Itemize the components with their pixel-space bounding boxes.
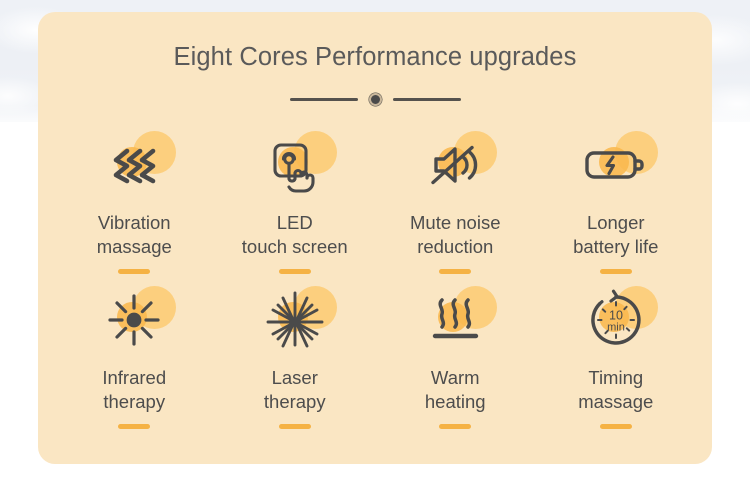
feature-label: Mute noise reduction xyxy=(410,211,501,260)
feature-item-vibration-massage[interactable]: Vibration massage xyxy=(54,129,215,284)
icon-container xyxy=(252,284,338,356)
label-underline xyxy=(279,269,311,274)
label-underline xyxy=(439,269,471,274)
icon-container xyxy=(91,284,177,356)
battery-charging-icon xyxy=(582,136,650,194)
timer-value: 10 xyxy=(609,308,623,322)
divider-line-left xyxy=(290,98,358,101)
label-underline xyxy=(279,424,311,429)
title-divider xyxy=(38,93,712,107)
feature-item-warm-heating[interactable]: Warm heating xyxy=(375,284,536,439)
page-title: Eight Cores Performance upgrades xyxy=(38,12,712,73)
feature-item-laser-therapy[interactable]: Laser therapy xyxy=(215,284,376,439)
timer-10-min-icon: 10 min xyxy=(585,289,647,351)
icon-container xyxy=(91,129,177,201)
label-underline xyxy=(118,424,150,429)
feature-label: LED touch screen xyxy=(242,211,348,260)
feature-card: Eight Cores Performance upgrades Vibrati… xyxy=(38,12,712,464)
label-underline xyxy=(600,269,632,274)
feature-item-infrared-therapy[interactable]: Infrared therapy xyxy=(54,284,215,439)
label-underline xyxy=(600,424,632,429)
icon-container xyxy=(412,284,498,356)
touch-screen-hand-icon xyxy=(266,136,324,194)
feature-label: Infrared therapy xyxy=(102,366,166,415)
feature-grid: Vibration massage xyxy=(38,107,712,455)
icon-container xyxy=(252,129,338,201)
feature-item-mute-noise-reduction[interactable]: Mute noise reduction xyxy=(375,129,536,284)
divider-line-right xyxy=(393,98,461,101)
label-underline xyxy=(439,424,471,429)
sun-rays-icon xyxy=(105,291,163,349)
divider-dot xyxy=(369,93,382,106)
icon-container xyxy=(573,129,659,201)
vibration-waves-icon xyxy=(105,136,163,194)
feature-label: Vibration massage xyxy=(97,211,172,260)
feature-item-timing-massage[interactable]: 10 min Timing massage xyxy=(536,284,697,439)
timer-unit: min xyxy=(607,321,625,333)
feature-item-led-touch-screen[interactable]: LED touch screen xyxy=(215,129,376,284)
feature-item-longer-battery-life[interactable]: Longer battery life xyxy=(536,129,697,284)
icon-container xyxy=(412,129,498,201)
laser-starburst-icon xyxy=(264,291,326,349)
feature-label: Laser therapy xyxy=(264,366,326,415)
speaker-mute-icon xyxy=(426,136,484,194)
label-underline xyxy=(118,269,150,274)
feature-label: Longer battery life xyxy=(573,211,658,260)
feature-label: Timing massage xyxy=(578,366,653,415)
heat-waves-icon xyxy=(426,291,484,349)
icon-container: 10 min xyxy=(573,284,659,356)
feature-label: Warm heating xyxy=(425,366,486,415)
